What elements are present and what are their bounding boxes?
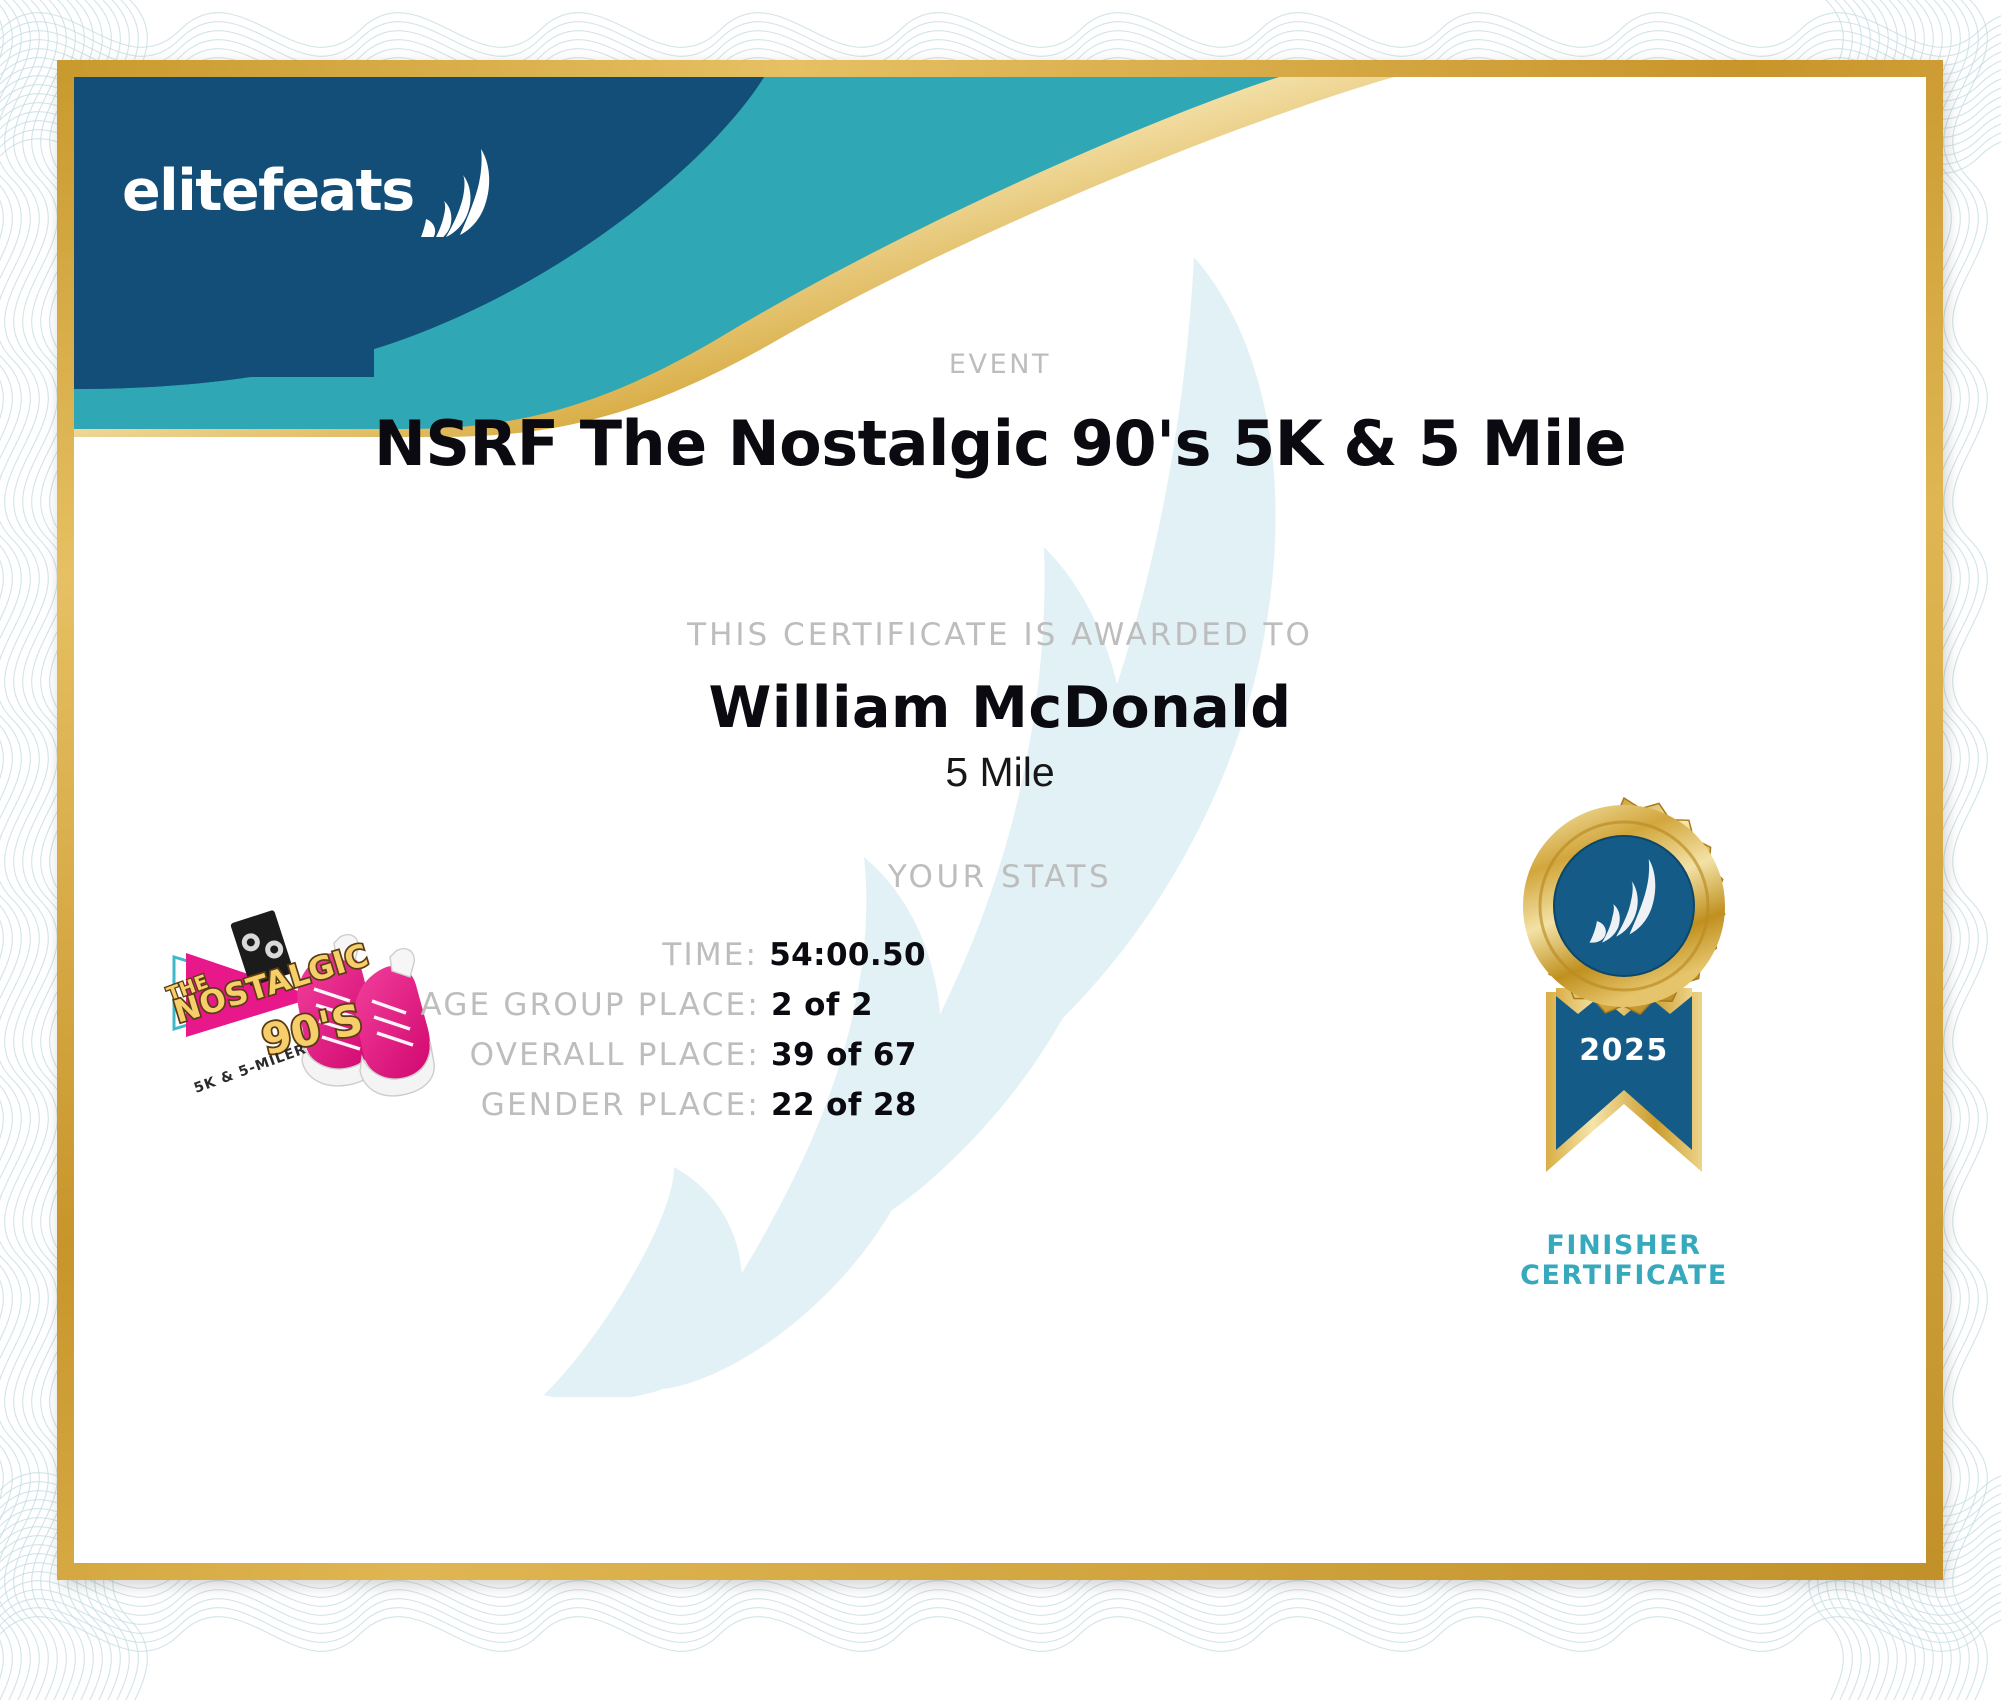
stat-label: GENDER PLACE: — [481, 1087, 760, 1123]
stat-row: GENDER PLACE: 22 of 28 — [74, 1087, 1926, 1123]
stat-value: 54:00.50 — [769, 937, 926, 973]
brand-wordmark: elitefeats — [122, 163, 414, 220]
certificate-page: elitefeats EVENT NSRF The Nostalgic 90's… — [0, 0, 2001, 1700]
stat-row: TIME: 54:00.50 — [74, 937, 1926, 973]
stat-value: 2 of 2 — [771, 987, 926, 1023]
stat-label: TIME: — [662, 937, 758, 973]
event-label: EVENT — [74, 349, 1926, 380]
stat-label: OVERALL PLACE: — [470, 1037, 760, 1073]
stat-value: 22 of 28 — [771, 1087, 926, 1123]
stat-row: OVERALL PLACE: 39 of 67 — [74, 1037, 1926, 1073]
certificate-content: EVENT NSRF The Nostalgic 90's 5K & 5 Mil… — [74, 77, 1926, 1563]
recipient-distance: 5 Mile — [74, 749, 1926, 796]
recipient-name: William McDonald — [74, 675, 1926, 741]
your-stats-label: YOUR STATS — [74, 859, 1926, 895]
winged-foot-icon — [418, 145, 500, 237]
stat-value: 39 of 67 — [771, 1037, 926, 1073]
awarded-to-label: THIS CERTIFICATE IS AWARDED TO — [74, 617, 1926, 653]
stat-row: AGE GROUP PLACE: 2 of 2 — [74, 987, 1926, 1023]
event-title: NSRF The Nostalgic 90's 5K & 5 Mile — [74, 407, 1926, 480]
stat-label: AGE GROUP PLACE: — [420, 987, 760, 1023]
stats-list: TIME: 54:00.50 AGE GROUP PLACE: 2 of 2 O… — [74, 937, 1926, 1137]
brand-logo: elitefeats — [122, 145, 500, 237]
certificate-gold-frame: elitefeats EVENT NSRF The Nostalgic 90's… — [57, 60, 1943, 1580]
